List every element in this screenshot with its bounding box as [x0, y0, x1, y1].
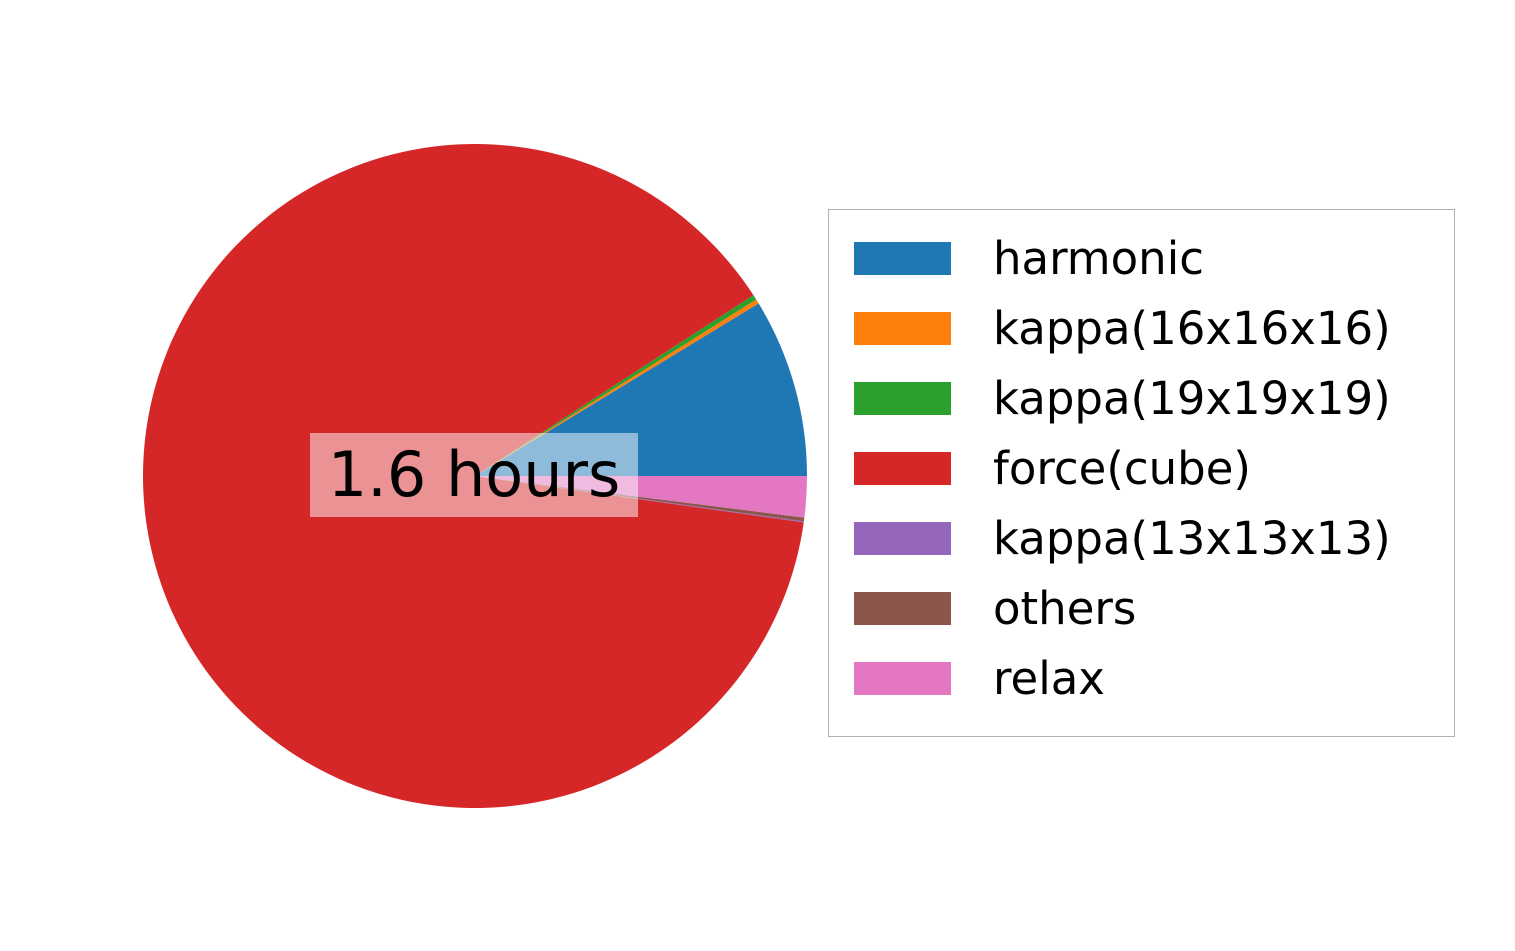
legend-item-label: relax — [993, 656, 1105, 701]
legend-swatch-icon — [854, 452, 951, 485]
legend-swatch-icon — [854, 382, 951, 415]
legend-swatch-icon — [854, 592, 951, 625]
legend-item-harmonic[interactable]: harmonic — [854, 227, 1204, 290]
pie-plot-area: 1.6 hours — [0, 0, 960, 951]
legend-item-label: force(cube) — [993, 446, 1251, 491]
legend-item-kappa-13x13x13-[interactable]: kappa(13x13x13) — [854, 507, 1391, 570]
legend-swatch-icon — [854, 522, 951, 555]
legend-item-label: harmonic — [993, 236, 1204, 281]
legend-item-others[interactable]: others — [854, 577, 1136, 640]
legend-item-list: harmonickappa(16x16x16)kappa(19x19x19)fo… — [829, 210, 1454, 736]
legend-swatch-icon — [854, 662, 951, 695]
center-total-label: 1.6 hours — [310, 433, 638, 517]
legend-item-kappa-19x19x19-[interactable]: kappa(19x19x19) — [854, 367, 1391, 430]
legend-item-kappa-16x16x16-[interactable]: kappa(16x16x16) — [854, 297, 1391, 360]
legend-item-label: kappa(16x16x16) — [993, 306, 1391, 351]
center-total-value: 1.6 hours — [328, 444, 621, 506]
legend-swatch-icon — [854, 312, 951, 345]
legend-item-label: others — [993, 586, 1136, 631]
legend-swatch-icon — [854, 242, 951, 275]
pie-chart-figure: 1.6 hours harmonickappa(16x16x16)kappa(1… — [0, 0, 1515, 951]
legend-item-relax[interactable]: relax — [854, 647, 1105, 710]
chart-legend: harmonickappa(16x16x16)kappa(19x19x19)fo… — [828, 209, 1455, 737]
legend-item-force-cube-[interactable]: force(cube) — [854, 437, 1251, 500]
legend-item-label: kappa(13x13x13) — [993, 516, 1391, 561]
legend-item-label: kappa(19x19x19) — [993, 376, 1391, 421]
